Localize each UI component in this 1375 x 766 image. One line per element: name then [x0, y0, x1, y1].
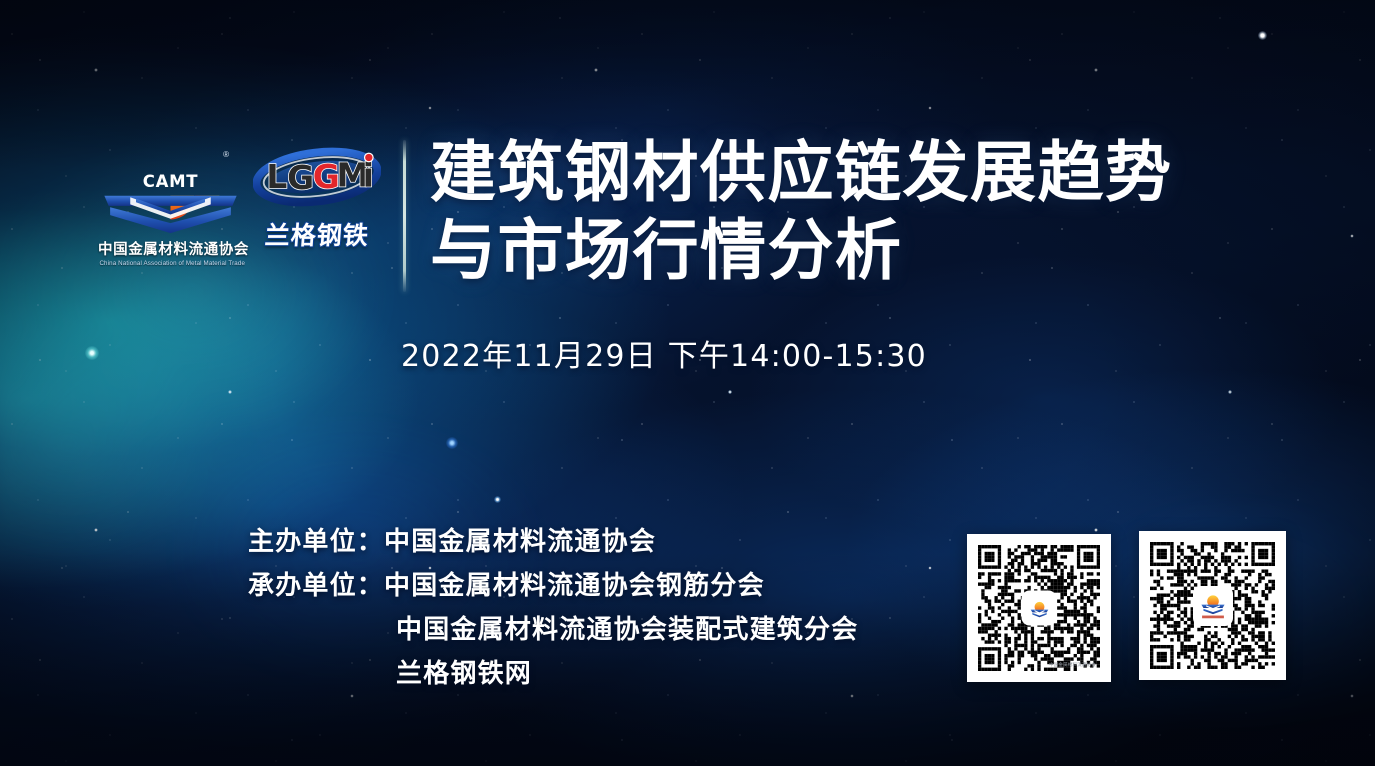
organizer-block: 主办单位： 中国金属材料流通协会 承办单位： 中国金属材料流通协会钢筋分会 中国…: [248, 521, 858, 697]
registered-mark: ®: [223, 150, 229, 159]
svg-text:G: G: [313, 157, 340, 196]
event-datetime: 2022年11月29日 下午14:00-15:30: [401, 331, 927, 375]
camt-logo: CAMT ® 中国金属材料流通协会 China National Associa…: [98, 144, 243, 272]
qr-watermark: 中国金属材料流通协会: [1049, 662, 1096, 668]
svg-text:CAMT: CAMT: [143, 172, 198, 191]
qr-code-left-image: 中国金属材料流通协会: [978, 545, 1100, 671]
poster-canvas: CAMT ® 中国金属材料流通协会 China National Associa…: [0, 0, 1375, 766]
qr-center-logo: [1195, 588, 1231, 624]
organizer-label: 主办单位：: [248, 521, 384, 558]
camt-emblem-icon: CAMT: [98, 144, 243, 236]
svg-text:L: L: [266, 157, 287, 196]
qr-center-logo: [1024, 593, 1055, 624]
organizer-row: 中国金属材料流通协会装配式建筑分会: [248, 609, 858, 653]
qr-code-right-image: [1150, 542, 1275, 669]
title-line-2: 与市场行情分析: [430, 212, 1173, 290]
qr-code-right[interactable]: [1139, 531, 1286, 680]
organizer-value: 中国金属材料流通协会钢筋分会: [384, 565, 765, 602]
organizer-row: 主办单位： 中国金属材料流通协会: [248, 521, 858, 565]
organizer-row: 兰格钢铁网: [248, 653, 858, 697]
organizer-value: 中国金属材料流通协会: [384, 521, 656, 558]
camt-english-name: China National Association of Metal Mate…: [99, 260, 241, 267]
lgmi-emblem-icon: L G G M i: [253, 144, 381, 210]
svg-text:G: G: [287, 158, 314, 197]
qr-code-left[interactable]: 中国金属材料流通协会: [967, 534, 1111, 682]
lgmi-logo: L G G M i 兰格钢铁: [253, 144, 381, 264]
organizer-value: 兰格钢铁网: [396, 653, 532, 690]
logo-group: CAMT ® 中国金属材料流通协会 China National Associa…: [98, 132, 381, 272]
title-line-1: 建筑钢材供应链发展趋势: [430, 134, 1173, 212]
organizer-value: 中国金属材料流通协会装配式建筑分会: [396, 609, 858, 646]
poster-title: 建筑钢材供应链发展趋势 与市场行情分析: [430, 132, 1173, 290]
camt-chinese-name: 中国金属材料流通协会: [98, 238, 243, 259]
header-divider: [403, 140, 406, 292]
lgmi-chinese-name: 兰格钢铁: [252, 216, 383, 252]
poster-header: CAMT ® 中国金属材料流通协会 China National Associa…: [98, 132, 1173, 292]
organizer-row: 承办单位： 中国金属材料流通协会钢筋分会: [248, 565, 858, 609]
organizer-label: 承办单位：: [248, 565, 384, 602]
